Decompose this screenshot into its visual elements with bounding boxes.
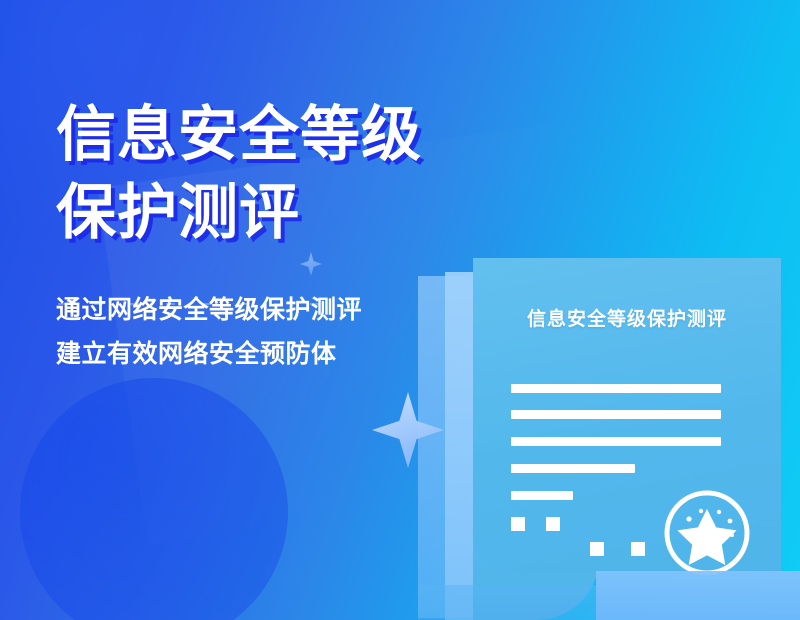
certificate-square	[590, 542, 604, 556]
headline-line-1: 信息安全等级	[56, 96, 486, 174]
certificate-square	[511, 517, 525, 531]
subtitle-line-2: 建立有效网络安全预防体	[56, 332, 486, 376]
headline-block: 信息安全等级 保护测评 通过网络安全等级保护测评 建立有效网络安全预防体	[56, 96, 486, 376]
certificate-square	[631, 542, 645, 556]
promo-banner: 信息安全等级保护测评 信息安全等级	[0, 0, 800, 620]
certificate-line	[511, 491, 573, 500]
certificate-square	[546, 517, 560, 531]
certificate-line	[511, 384, 721, 393]
certificate-line	[511, 437, 721, 446]
subtitle-line-1: 通过网络安全等级保护测评	[56, 288, 486, 332]
bottom-band-secondary	[418, 585, 598, 620]
star-seal-icon	[661, 487, 753, 579]
certificate-title: 信息安全等级保护测评	[473, 304, 781, 331]
headline-line-2: 保护测评	[56, 174, 486, 252]
subtitle-block: 通过网络安全等级保护测评 建立有效网络安全预防体	[56, 288, 486, 376]
certificate-line	[511, 410, 721, 419]
bottom-band	[596, 571, 800, 620]
certificate-line	[511, 464, 635, 473]
